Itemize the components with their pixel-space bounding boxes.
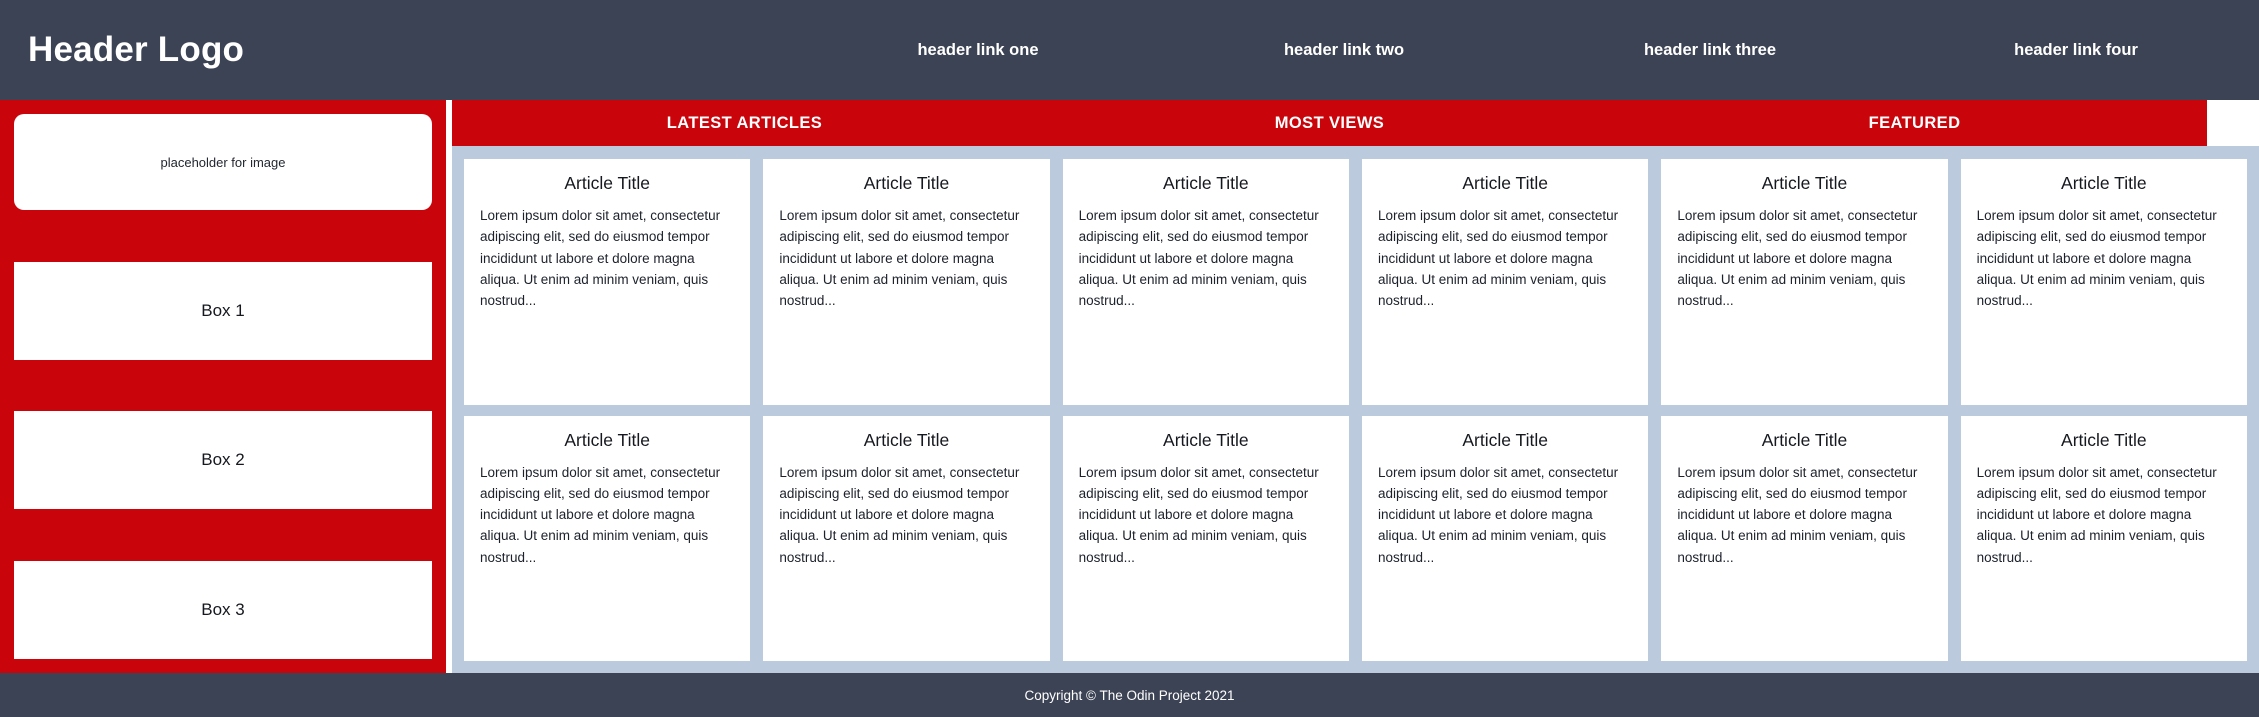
article-excerpt: Lorem ipsum dolor sit amet, consectetur … <box>1977 462 2231 569</box>
article-title: Article Title <box>1079 430 1333 451</box>
article-title: Article Title <box>1677 173 1931 194</box>
article-card[interactable]: Article Title Lorem ipsum dolor sit amet… <box>1063 159 1349 405</box>
article-excerpt: Lorem ipsum dolor sit amet, consectetur … <box>1079 462 1333 569</box>
article-excerpt: Lorem ipsum dolor sit amet, consectetur … <box>480 205 734 312</box>
section-tabs: LATEST ARTICLES MOST VIEWS FEATURED <box>452 100 2207 146</box>
sidebar-box-2[interactable]: Box 2 <box>14 411 432 509</box>
header-link-one[interactable]: header link one <box>795 41 1161 60</box>
article-card[interactable]: Article Title Lorem ipsum dolor sit amet… <box>1961 416 2247 662</box>
sidebar-image-placeholder[interactable]: placeholder for image <box>14 114 432 210</box>
sidebar-box-3[interactable]: Box 3 <box>14 561 432 659</box>
article-excerpt: Lorem ipsum dolor sit amet, consectetur … <box>1677 205 1931 312</box>
header-link-three[interactable]: header link three <box>1527 41 1893 60</box>
article-title: Article Title <box>1977 173 2231 194</box>
sidebar-spacer-three <box>14 509 432 561</box>
article-title: Article Title <box>480 173 734 194</box>
page-root: Header Logo header link one header link … <box>0 0 2259 717</box>
article-excerpt: Lorem ipsum dolor sit amet, consectetur … <box>1977 205 2231 312</box>
article-title: Article Title <box>1378 173 1632 194</box>
cards-region: Article Title Lorem ipsum dolor sit amet… <box>452 146 2259 673</box>
header-link-two[interactable]: header link two <box>1161 41 1527 60</box>
article-card[interactable]: Article Title Lorem ipsum dolor sit amet… <box>1362 416 1648 662</box>
tab-most-views[interactable]: MOST VIEWS <box>1037 114 1622 133</box>
tab-featured[interactable]: FEATURED <box>1622 114 2207 133</box>
article-title: Article Title <box>1378 430 1632 451</box>
site-footer: Copyright © The Odin Project 2021 <box>0 673 2259 717</box>
card-row-1: Article Title Lorem ipsum dolor sit amet… <box>464 159 2247 405</box>
article-excerpt: Lorem ipsum dolor sit amet, consectetur … <box>1378 462 1632 569</box>
article-card[interactable]: Article Title Lorem ipsum dolor sit amet… <box>464 159 750 405</box>
header-logo[interactable]: Header Logo <box>28 30 244 70</box>
sidebar-box-1[interactable]: Box 1 <box>14 262 432 360</box>
sidebar-spacer-one <box>14 210 432 262</box>
article-excerpt: Lorem ipsum dolor sit amet, consectetur … <box>480 462 734 569</box>
main-content: LATEST ARTICLES MOST VIEWS FEATURED Arti… <box>452 100 2259 673</box>
article-card[interactable]: Article Title Lorem ipsum dolor sit amet… <box>1362 159 1648 405</box>
article-title: Article Title <box>779 430 1033 451</box>
body-area: placeholder for image Box 1 Box 2 Box 3 … <box>0 100 2259 673</box>
tab-latest-articles[interactable]: LATEST ARTICLES <box>452 114 1037 133</box>
header-link-four[interactable]: header link four <box>1893 41 2259 60</box>
article-card[interactable]: Article Title Lorem ipsum dolor sit amet… <box>1661 159 1947 405</box>
article-excerpt: Lorem ipsum dolor sit amet, consectetur … <box>1677 462 1931 569</box>
card-row-2: Article Title Lorem ipsum dolor sit amet… <box>464 416 2247 662</box>
site-header: Header Logo header link one header link … <box>0 0 2259 100</box>
article-excerpt: Lorem ipsum dolor sit amet, consectetur … <box>779 205 1033 312</box>
article-title: Article Title <box>480 430 734 451</box>
article-excerpt: Lorem ipsum dolor sit amet, consectetur … <box>1378 205 1632 312</box>
article-card[interactable]: Article Title Lorem ipsum dolor sit amet… <box>1661 416 1947 662</box>
article-card[interactable]: Article Title Lorem ipsum dolor sit amet… <box>1961 159 2247 405</box>
article-title: Article Title <box>779 173 1033 194</box>
article-card[interactable]: Article Title Lorem ipsum dolor sit amet… <box>1063 416 1349 662</box>
article-title: Article Title <box>1079 173 1333 194</box>
header-nav: header link one header link two header l… <box>244 41 2259 60</box>
sidebar-spacer-two <box>14 360 432 412</box>
footer-copyright: Copyright © The Odin Project 2021 <box>1024 688 1234 703</box>
article-title: Article Title <box>1677 430 1931 451</box>
article-excerpt: Lorem ipsum dolor sit amet, consectetur … <box>779 462 1033 569</box>
article-card[interactable]: Article Title Lorem ipsum dolor sit amet… <box>763 159 1049 405</box>
article-excerpt: Lorem ipsum dolor sit amet, consectetur … <box>1079 205 1333 312</box>
article-title: Article Title <box>1977 430 2231 451</box>
sidebar: placeholder for image Box 1 Box 2 Box 3 <box>0 100 446 673</box>
article-card[interactable]: Article Title Lorem ipsum dolor sit amet… <box>464 416 750 662</box>
article-card[interactable]: Article Title Lorem ipsum dolor sit amet… <box>763 416 1049 662</box>
